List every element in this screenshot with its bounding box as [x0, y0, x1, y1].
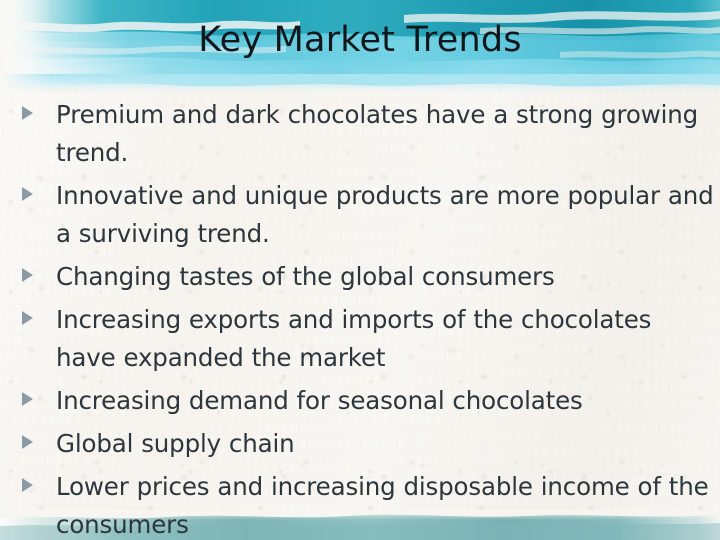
list-item-label: Global supply chain [56, 425, 714, 463]
list-item-label: Innovative and unique products are more … [56, 177, 714, 253]
bullet-list: Premium and dark chocolates have a stron… [0, 96, 720, 540]
list-item-label: Lower prices and increasing disposable i… [56, 468, 714, 540]
list-item-label: Premium and dark chocolates have a stron… [56, 96, 714, 172]
list-item-label: Increasing demand for seasonal chocolate… [56, 382, 714, 420]
list-item-label: Increasing exports and imports of the ch… [56, 301, 714, 377]
list-item-label: Changing tastes of the global consumers [56, 258, 714, 296]
list-item[interactable]: Changing tastes of the global consumers [0, 258, 720, 296]
triangle-bullet-icon [22, 268, 33, 282]
list-item[interactable]: Increasing demand for seasonal chocolate… [0, 382, 720, 420]
triangle-bullet-icon [22, 187, 33, 201]
list-item[interactable]: Increasing exports and imports of the ch… [0, 301, 720, 377]
triangle-bullet-icon [22, 435, 33, 449]
triangle-bullet-icon [22, 106, 33, 120]
list-item[interactable]: Lower prices and increasing disposable i… [0, 468, 720, 540]
list-item[interactable]: Innovative and unique products are more … [0, 177, 720, 253]
triangle-bullet-icon [22, 478, 33, 492]
triangle-bullet-icon [22, 311, 33, 325]
list-item[interactable]: Global supply chain [0, 425, 720, 463]
list-item[interactable]: Premium and dark chocolates have a stron… [0, 96, 720, 172]
slide-title: Key Market Trends [0, 18, 720, 62]
slide-canvas: Key Market Trends Premium and dark choco… [0, 0, 720, 540]
triangle-bullet-icon [22, 392, 33, 406]
